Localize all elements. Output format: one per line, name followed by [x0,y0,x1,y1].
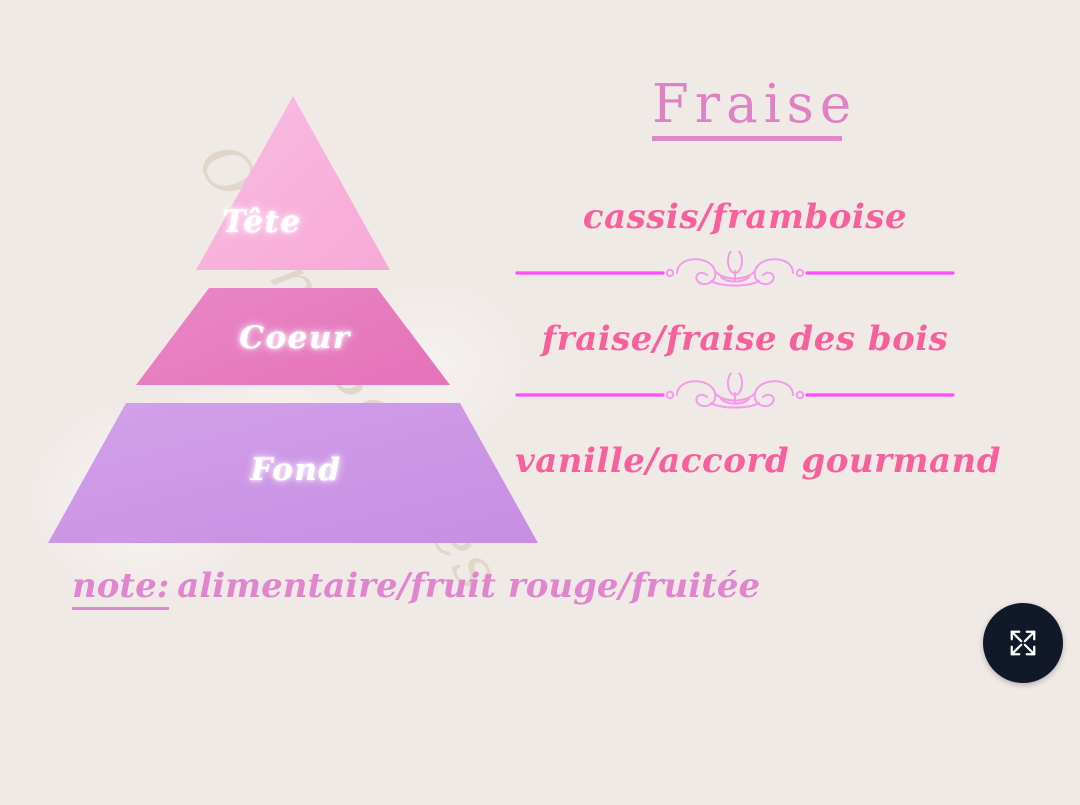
bottom-note: note:alimentaire/fruit rouge/fruitée [72,566,760,606]
note-top-label: cassis/framboise [515,197,975,237]
ornamental-divider [515,251,975,291]
flourish-icon [515,373,955,413]
ornamental-divider [515,373,975,413]
fragrance-pyramid: Tête Coeur Fond [0,0,600,600]
pyramid-layer-tete[interactable] [196,96,390,270]
pyramid-label-fond: Fond [250,452,341,488]
expand-icon [1008,628,1038,658]
pyramid-shapes [0,0,600,600]
pyramid-label-tete: Tête [222,204,301,240]
note-base-label: vanille/accord gourmand [515,441,975,481]
page-title: Fraise [652,78,842,141]
note-heart-label: fraise/fraise des bois [515,319,975,359]
bottom-note-label: note: [72,566,169,610]
fragrance-pyramid-card: Ohana Bougies [0,0,1080,805]
pyramid-label-coeur: Coeur [239,320,350,356]
notes-column: Fraise cassis/framboise [515,78,975,481]
expand-button[interactable] [983,603,1063,683]
flourish-icon [515,251,955,291]
bottom-note-value: alimentaire/fruit rouge/fruitée [177,566,760,606]
